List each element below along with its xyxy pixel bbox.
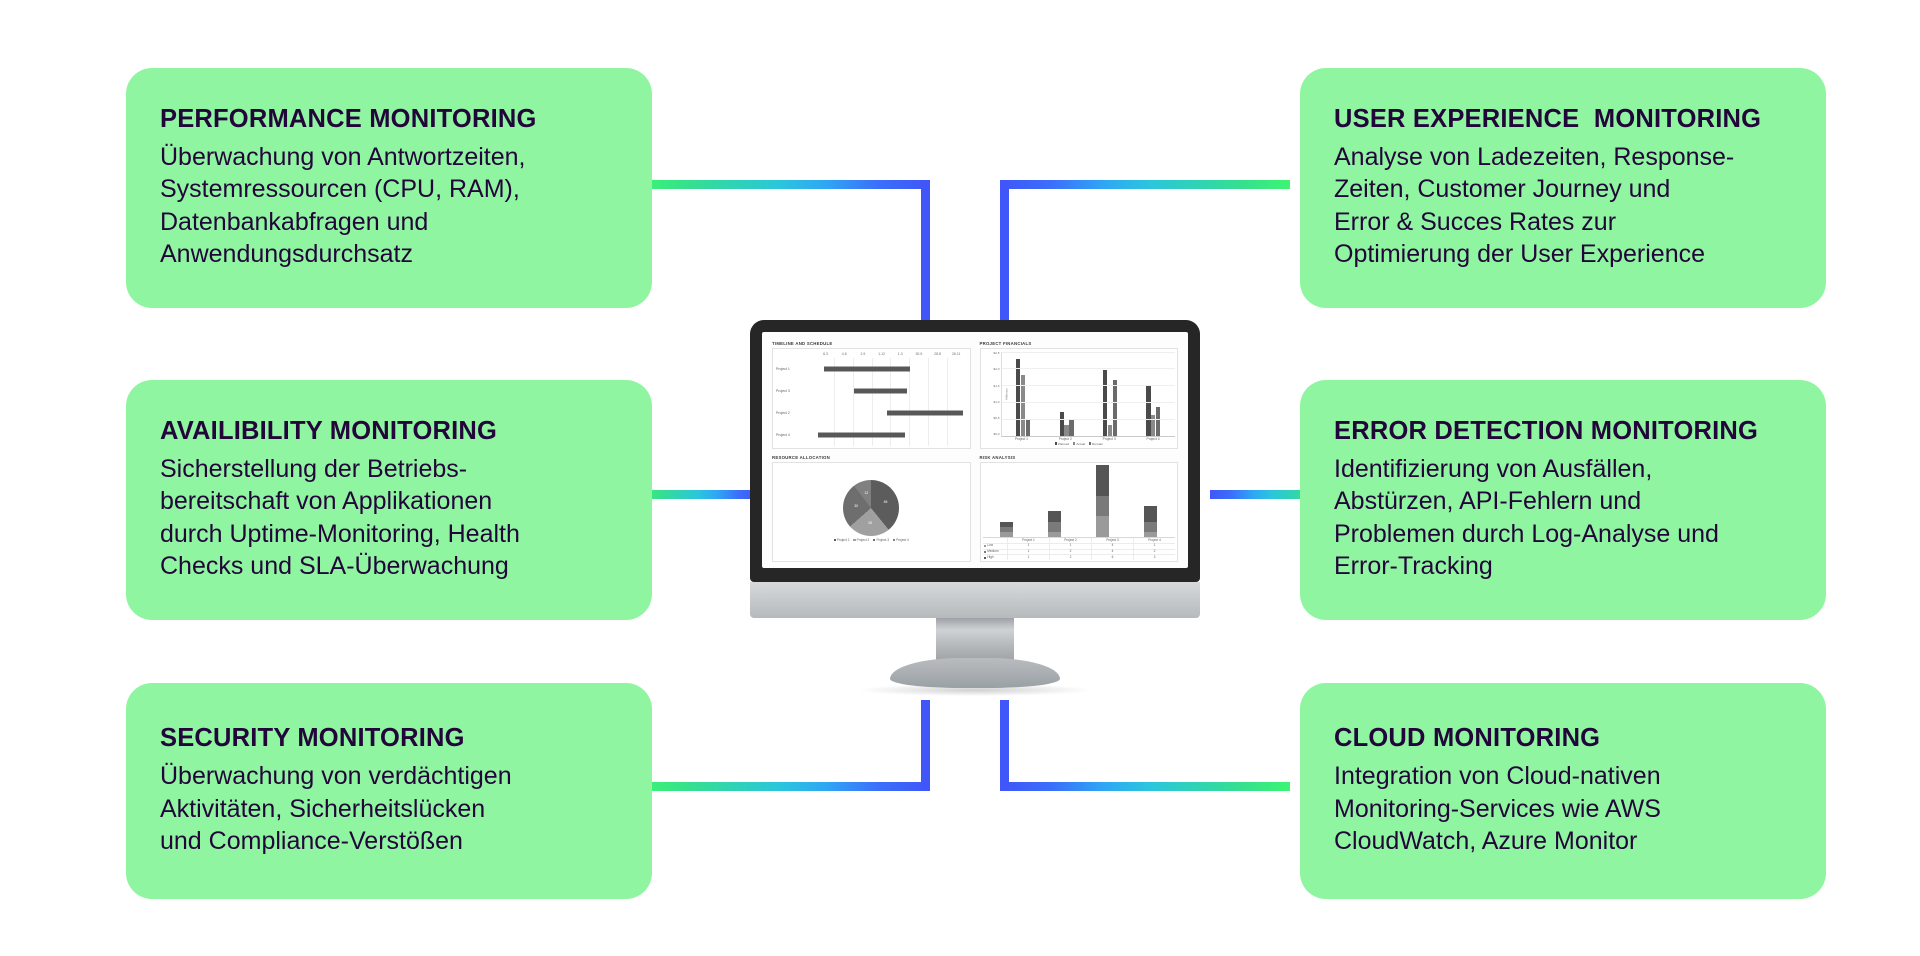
gantt-bar: [887, 410, 962, 415]
pie-chart: 45283012: [843, 480, 899, 536]
connector-performance-horizontal: [640, 180, 930, 189]
gantt-track: [815, 424, 965, 446]
bar-chart: $2,5$2,0$1,5$1,0$0,5$0,0 Millionen Proje…: [981, 349, 1178, 448]
risk-segment: [1048, 522, 1061, 532]
card-availibility-monitoring[interactable]: AVAILIBILITY MONITORING Sicherstellung d…: [126, 380, 652, 620]
card-body: Überwachung von verdächtigen Aktivitäten…: [160, 760, 618, 858]
legend-item: Actual: [1073, 442, 1085, 446]
bar-chart-main: $2,5$2,0$1,5$1,0$0,5$0,0 Millionen: [983, 352, 1176, 437]
card-body: Überwachung von Antwortzeiten, Systemres…: [160, 141, 618, 271]
legend-swatch: [1073, 442, 1075, 444]
gantt-row-label: Project 3: [773, 389, 815, 393]
legend-swatch: [1089, 442, 1091, 444]
risk-table-cell: 2: [1050, 555, 1092, 560]
risk-segment: [1096, 516, 1109, 537]
card-title: ERROR DETECTION MONITORING: [1334, 417, 1792, 446]
gantt-chart: 6.34.62.91.121.330.528.826.11 Project 1P…: [773, 349, 970, 448]
panel-title: RESOURCE ALLOCATION: [772, 455, 971, 460]
bar-group: [1060, 352, 1074, 436]
risk-table-cell: 3: [1134, 555, 1175, 560]
legend-item: Planned: [1055, 442, 1070, 446]
risk-table-cell: 2: [1134, 550, 1175, 555]
card-error-detection-monitoring[interactable]: ERROR DETECTION MONITORING Identifizieru…: [1300, 380, 1826, 620]
financials-chart: $2,5$2,0$1,5$1,0$0,5$0,0 Millionen Proje…: [980, 348, 1179, 449]
connector-availibility-horizontal: [640, 490, 760, 499]
risk-segment: [1096, 496, 1109, 517]
pie-slice-label: 28: [868, 521, 872, 525]
risk-table-header-cell: Project 3: [1092, 538, 1134, 543]
panel-project-financials: PROJECT FINANCIALS $2,5$2,0$1,5$1,0$0,5$…: [980, 341, 1179, 449]
gantt-tick-label: 1.12: [878, 352, 885, 356]
risk-table-cell: 1: [1008, 544, 1050, 549]
risk-table-cell: 6: [1092, 555, 1134, 560]
risk-table-corner: [983, 538, 1009, 543]
gantt-axis: 6.34.62.91.121.330.528.826.11: [816, 352, 965, 357]
risk-stack: [1096, 465, 1109, 538]
bar: [1060, 412, 1064, 435]
gantt-tick-label: 30.5: [915, 352, 922, 356]
card-title: USER EXPERIENCE MONITORING: [1334, 105, 1792, 134]
legend-swatch: [893, 539, 895, 541]
risk-plot: [983, 465, 1176, 538]
gantt-track: [815, 380, 965, 402]
legend-item: Project 2: [853, 538, 869, 542]
risk-segment: [1048, 511, 1061, 521]
bar-chart-x-label: Project 1: [1015, 437, 1028, 441]
card-title: AVAILIBILITY MONITORING: [160, 417, 618, 446]
bar-chart-y-tick: $1,5: [993, 385, 999, 388]
card-body: Identifizierung von Ausfällen, Abstürzen…: [1334, 453, 1792, 583]
panel-title: PROJECT FINANCIALS: [980, 341, 1179, 346]
gantt-track: [815, 402, 965, 424]
legend-item: Project 1: [834, 538, 850, 542]
risk-data-table: Project 1Project 2Project 3Project 4Low1…: [983, 537, 1176, 560]
gantt-row: Project 4: [773, 424, 966, 446]
gantt-row: Project 2: [773, 402, 966, 424]
monitor-chin: [750, 582, 1200, 618]
bar: [1069, 419, 1073, 436]
gantt-row: Project 1: [773, 358, 966, 380]
gantt-tick-label: 6.3: [823, 352, 828, 356]
connector-user-experience-horizontal: [1000, 180, 1290, 189]
card-title: PERFORMANCE MONITORING: [160, 105, 618, 134]
gantt-row-label: Project 4: [773, 433, 815, 437]
risk-table-row-label: Medium: [983, 550, 1009, 555]
card-title: SECURITY MONITORING: [160, 724, 618, 753]
gantt-tick-label: 1.3: [898, 352, 903, 356]
gantt-track: [815, 358, 965, 380]
connector-cloud-horizontal: [1000, 782, 1290, 791]
gantt-rows: Project 1Project 3Project 2Project 4: [773, 358, 966, 446]
gantt-tick-label: 4.6: [842, 352, 847, 356]
bar: [1156, 407, 1160, 435]
monitor-bezel: TIMELINE AND SCHEDULE 6.34.62.91.121.330…: [750, 320, 1200, 582]
gantt-row-label: Project 1: [773, 367, 815, 371]
legend-item: Project 3: [873, 538, 889, 542]
legend-swatch: [984, 545, 986, 547]
risk-table-header-cell: Project 1: [1008, 538, 1050, 543]
bar-chart-x-labels: Project 1Project 2Project 3Project 4: [983, 437, 1176, 441]
risk-table-cell: 4: [1092, 550, 1134, 555]
bar-chart-y-label: Millionen: [1004, 388, 1008, 399]
bar-chart-y-tick: $2,0: [993, 368, 999, 371]
legend-swatch: [873, 539, 875, 541]
gantt-row-label: Project 2: [773, 411, 815, 415]
legend-swatch: [984, 551, 986, 553]
card-user-experience-monitoring[interactable]: USER EXPERIENCE MONITORING Analyse von L…: [1300, 68, 1826, 308]
monitor-illustration: TIMELINE AND SCHEDULE 6.34.62.91.121.330…: [750, 320, 1200, 696]
risk-table-cell: 1: [1008, 555, 1050, 560]
risk-table-cell: 1: [1050, 544, 1092, 549]
bar: [1026, 420, 1030, 435]
connector-performance-vertical: [921, 180, 930, 325]
connector-security-horizontal: [640, 782, 930, 791]
card-security-monitoring[interactable]: SECURITY MONITORING Überwachung von verd…: [126, 683, 652, 899]
bar: [1016, 359, 1020, 436]
risk-table-cell: 2: [1050, 550, 1092, 555]
risk-stacked-chart: Project 1Project 2Project 3Project 4Low1…: [981, 463, 1178, 562]
risk-table-cell: 1: [1008, 550, 1050, 555]
bar-chart-plot: Millionen: [1001, 352, 1176, 437]
bar-chart-y-tick: $1,0: [993, 401, 999, 404]
bar-chart-x-label: Project 2: [1059, 437, 1072, 441]
card-cloud-monitoring[interactable]: CLOUD MONITORING Integration von Cloud-n…: [1300, 683, 1826, 899]
legend-swatch: [1055, 442, 1057, 444]
pie-slice-label: 45: [884, 500, 888, 504]
monitor-base: [890, 658, 1060, 688]
card-performance-monitoring[interactable]: PERFORMANCE MONITORING Überwachung von A…: [126, 68, 652, 308]
risk-table-header-cell: Project 4: [1134, 538, 1175, 543]
bar-chart-legend: PlannedActualRemain: [983, 442, 1176, 446]
risk-table-header-cell: Project 2: [1050, 538, 1092, 543]
pie-slice-label: 30: [854, 504, 858, 508]
bar-group: [1146, 352, 1160, 436]
bar: [1064, 425, 1068, 435]
bar-chart-y-axis: $2,5$2,0$1,5$1,0$0,5$0,0: [983, 352, 1001, 437]
diagram-canvas: PERFORMANCE MONITORING Überwachung von A…: [0, 0, 1920, 956]
risk-stack: [1048, 511, 1061, 537]
risk-table-row: High1263: [983, 555, 1176, 560]
bar-chart-x-label: Project 4: [1147, 437, 1160, 441]
timeline-chart: 6.34.62.91.121.330.528.826.11 Project 1P…: [772, 348, 971, 449]
legend-swatch: [853, 539, 855, 541]
risk-stack: [1000, 522, 1013, 538]
legend-swatch: [984, 557, 986, 559]
panel-title: RISK ANALYSIS: [980, 455, 1179, 460]
bar-chart-x-label: Project 3: [1103, 437, 1116, 441]
panel-resource-allocation: RESOURCE ALLOCATION 45283012 Project 1Pr…: [772, 455, 971, 563]
card-title: CLOUD MONITORING: [1334, 724, 1792, 753]
dashboard-screen: TIMELINE AND SCHEDULE 6.34.62.91.121.330…: [762, 332, 1188, 568]
risk-table-row-label: High: [983, 555, 1009, 560]
risk-table-cell: 4: [1092, 544, 1134, 549]
panel-risk-analysis: RISK ANALYSIS Project 1Project 2Project …: [980, 455, 1179, 563]
panel-title: TIMELINE AND SCHEDULE: [772, 341, 971, 346]
gantt-tick-label: 2.9: [860, 352, 865, 356]
bar: [1103, 370, 1107, 435]
pie-slice-label: 12: [864, 491, 868, 495]
card-body: Integration von Cloud-nativen Monitoring…: [1334, 760, 1792, 858]
bar-group: [1103, 352, 1117, 436]
risk-segment: [1144, 522, 1157, 532]
legend-item: Remain: [1089, 442, 1103, 446]
bar: [1108, 425, 1112, 435]
risk-segment: [1144, 506, 1157, 522]
gantt-bar: [818, 432, 905, 437]
legend-swatch: [834, 539, 836, 541]
panel-timeline-and-schedule: TIMELINE AND SCHEDULE 6.34.62.91.121.330…: [772, 341, 971, 449]
gantt-tick-label: 28.8: [934, 352, 941, 356]
risk-table-row-label: Low: [983, 544, 1009, 549]
resource-chart: 45283012 Project 1Project 2Project 3Proj…: [772, 462, 971, 563]
bar: [1146, 385, 1150, 435]
risk-segment: [1096, 465, 1109, 496]
card-body: Sicherstellung der Betriebs- bereitschaf…: [160, 453, 618, 583]
gantt-bar: [854, 388, 907, 393]
risk-table-cell: 1: [1134, 544, 1175, 549]
gantt-row: Project 3: [773, 380, 966, 402]
bar-chart-y-tick: $0,5: [993, 417, 999, 420]
connector-security-vertical: [921, 700, 930, 790]
gantt-bar: [824, 366, 910, 371]
bar-group: [1016, 352, 1030, 436]
risk-chart: Project 1Project 2Project 3Project 4Low1…: [980, 462, 1179, 563]
connector-cloud-vertical: [1000, 700, 1009, 790]
pie-chart-legend: Project 1Project 2Project 3Project 4: [834, 538, 909, 542]
gantt-tick-label: 26.11: [952, 352, 961, 356]
risk-stack: [1144, 506, 1157, 537]
bar: [1113, 380, 1117, 435]
legend-item: Project 4: [893, 538, 909, 542]
card-body: Analyse von Ladezeiten, Response- Zeiten…: [1334, 141, 1792, 271]
connector-user-experience-vertical: [1000, 180, 1009, 325]
pie-chart-wrap: 45283012 Project 1Project 2Project 3Proj…: [773, 463, 970, 562]
bar-chart-y-tick: $2,5: [993, 352, 999, 355]
